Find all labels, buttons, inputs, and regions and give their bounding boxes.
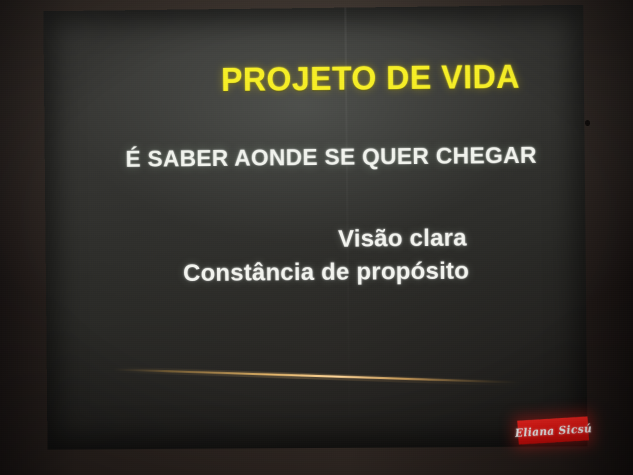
slide-content: PROJETO DE VIDA É SABER AONDE SE QUER CH… [43, 5, 587, 450]
wall-speck [585, 120, 590, 126]
slide-subtitle: É SABER AONDE SE QUER CHEGAR [47, 141, 582, 173]
gold-swoosh-icon [108, 358, 528, 387]
slide-title: PROJETO DE VIDA [52, 57, 576, 101]
slide-bullet-item: Constância de propósito [183, 255, 469, 290]
slide-bullet-item: Visão clara [183, 223, 467, 258]
presenter-logo-text: Eliana Sicsú [514, 422, 592, 440]
presenter-logo-badge: Eliana Sicsú [517, 416, 589, 444]
projector-photo: PROJETO DE VIDA É SABER AONDE SE QUER CH… [0, 0, 633, 475]
projection-screen: PROJETO DE VIDA É SABER AONDE SE QUER CH… [43, 5, 587, 450]
slide-bullet-list: Visão clara Constância de propósito [183, 223, 468, 291]
